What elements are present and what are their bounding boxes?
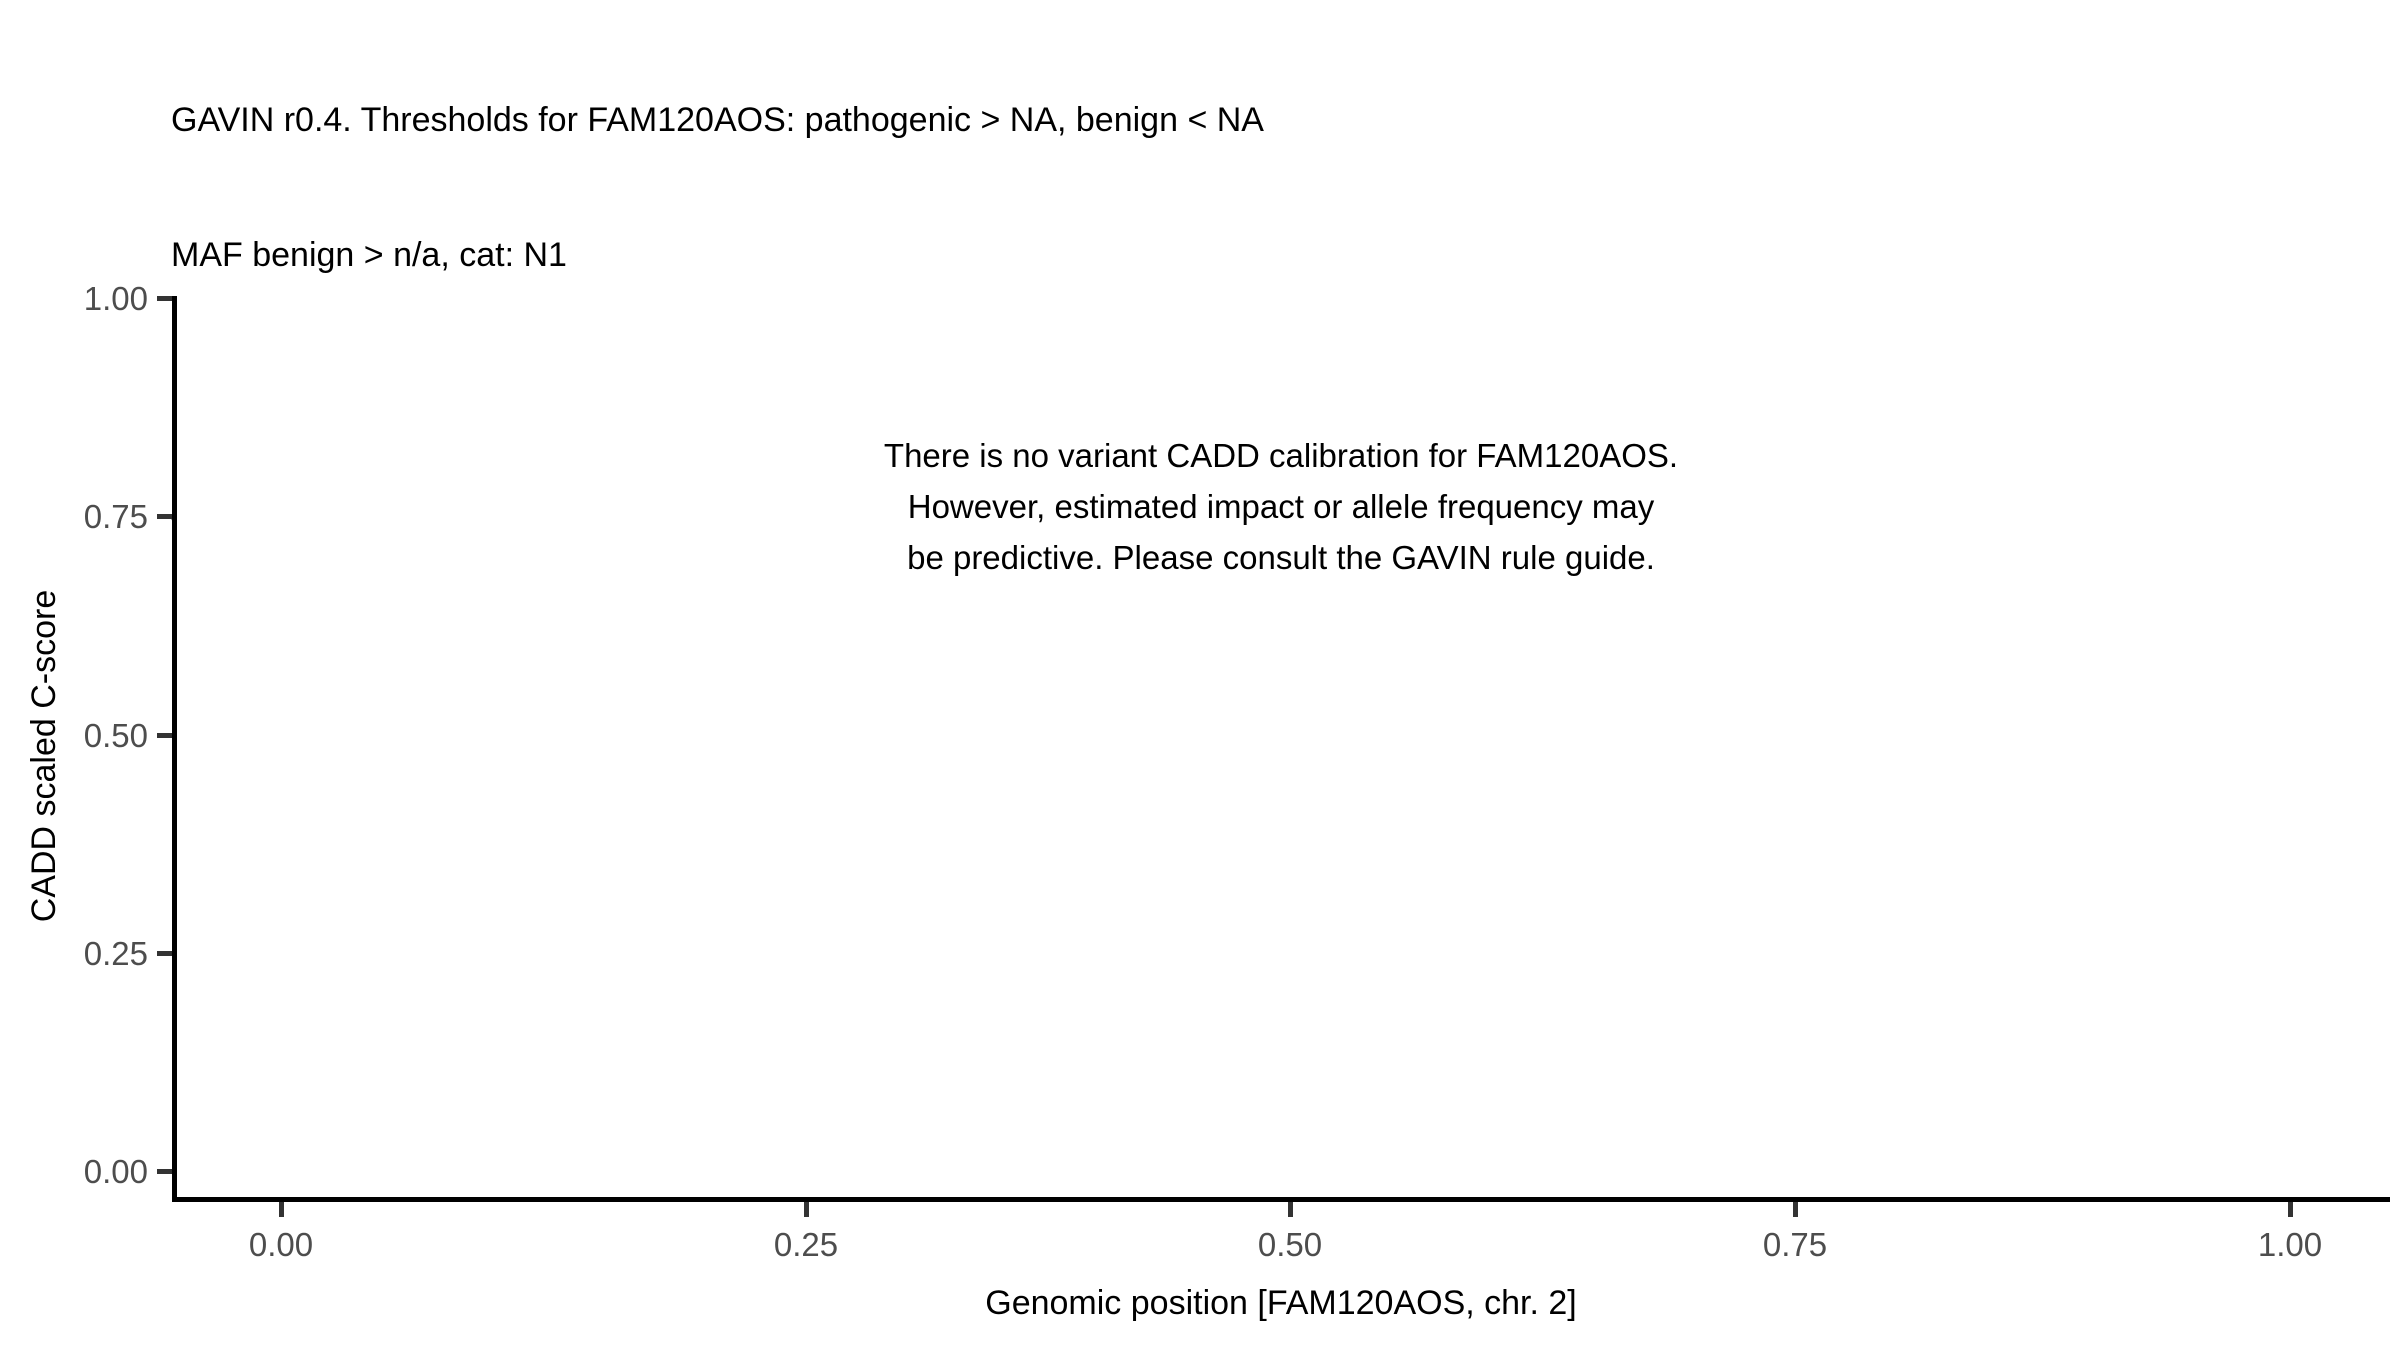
y-tick-mark [157, 514, 172, 519]
x-tick-label: 0.25 [686, 1224, 926, 1266]
y-tick-label: 0.25 [84, 933, 148, 975]
plot-title-line-2: MAF benign > n/a, cat: N1 [171, 233, 2271, 278]
y-tick-label: 1.00 [84, 278, 148, 320]
y-tick-mark [157, 296, 172, 301]
y-tick-mark [157, 1169, 172, 1174]
x-axis-title: Genomic position [FAM120AOS, chr. 2] [172, 1282, 2390, 1324]
panel-annotation: There is no variant CADD calibration for… [172, 430, 2390, 583]
x-tick-label: 0.00 [161, 1224, 401, 1266]
y-tick-label: 0.00 [84, 1151, 148, 1193]
x-tick-mark [2288, 1202, 2293, 1217]
panel-annotation-line-1: There is no variant CADD calibration for… [172, 430, 2390, 481]
x-tick-label: 1.00 [2170, 1224, 2400, 1266]
y-axis-title: CADD scaled C-score [24, 306, 64, 1206]
x-tick-label: 0.50 [1170, 1224, 1410, 1266]
y-tick-mark [157, 951, 172, 956]
x-axis-line [172, 1197, 2390, 1202]
plot-title-line-1: GAVIN r0.4. Thresholds for FAM120AOS: pa… [171, 98, 2271, 143]
x-tick-mark [1793, 1202, 1798, 1217]
plot-root: GAVIN r0.4. Thresholds for FAM120AOS: pa… [0, 0, 2400, 1350]
y-tick-mark [157, 733, 172, 738]
x-tick-mark [279, 1202, 284, 1217]
panel-annotation-line-2: However, estimated impact or allele freq… [172, 481, 2390, 532]
x-tick-mark [1288, 1202, 1293, 1217]
x-tick-label: 0.75 [1675, 1224, 1915, 1266]
y-tick-label: 0.50 [84, 715, 148, 757]
y-tick-label: 0.75 [84, 496, 148, 538]
panel-annotation-line-3: be predictive. Please consult the GAVIN … [172, 532, 2390, 583]
x-tick-mark [804, 1202, 809, 1217]
